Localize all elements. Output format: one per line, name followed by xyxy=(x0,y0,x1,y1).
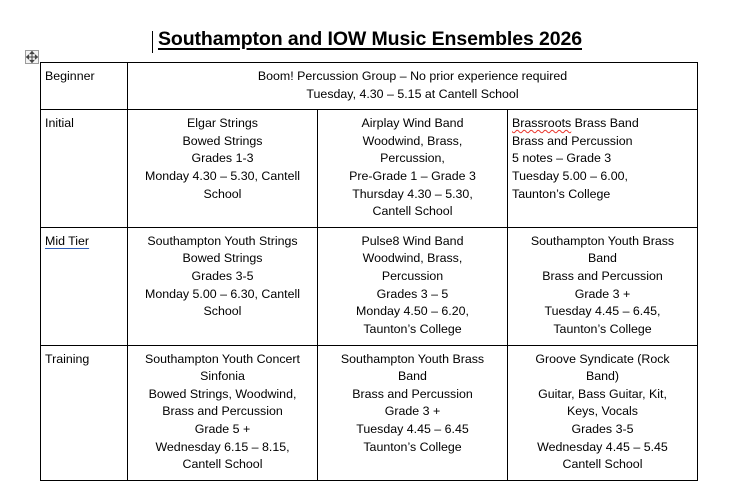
ensemble-detail-line: Band xyxy=(512,250,693,268)
ensemble-name: Southampton Youth Concert xyxy=(132,351,313,369)
ensemble-detail-line: Percussion xyxy=(322,268,503,286)
ensemble-cell[interactable]: Elgar StringsBowed StringsGrades 1-3Mond… xyxy=(128,110,318,228)
ensemble-detail-line: Wednesday 4.45 – 5.45 xyxy=(512,439,693,457)
ensemble-detail-line: Percussion, xyxy=(322,150,503,168)
ensemble-detail-line: Taunton’s College xyxy=(322,321,503,339)
ensemble-detail-line: Cantell School xyxy=(322,203,503,221)
ensemble-detail-line: Sinfonia xyxy=(132,368,313,386)
ensemble-detail-line: Grades 3-5 xyxy=(132,268,313,286)
tier-label: Initial xyxy=(45,116,74,130)
ensemble-detail-line: Thursday 4.30 – 5.30, xyxy=(322,186,503,204)
page-title: Southampton and IOW Music Ensembles 2026 xyxy=(40,28,700,51)
ensemble-detail-line: Tuesday 4.45 – 6.45 xyxy=(322,421,503,439)
tier-label: Training xyxy=(45,352,89,366)
ensemble-name-rest: Brass Band xyxy=(571,116,639,130)
ensemble-detail-line: Band xyxy=(322,368,503,386)
tier-label: Beginner xyxy=(45,69,95,83)
ensemble-name: Southampton Youth Brass xyxy=(512,233,693,251)
ensemble-name: Groove Syndicate (Rock xyxy=(512,351,693,369)
ensemble-name: Pulse8 Wind Band xyxy=(322,233,503,251)
tier-label-cell[interactable]: Initial xyxy=(41,110,128,228)
ensemble-detail-line: Tuesday 4.45 – 6.45, xyxy=(512,303,693,321)
ensemble-detail-line: Band) xyxy=(512,368,693,386)
ensemble-cell[interactable]: Groove Syndicate (RockBand)Guitar, Bass … xyxy=(508,345,698,480)
ensemble-detail-line: Bowed Strings xyxy=(132,133,313,151)
ensemble-detail-line: Brass and Percussion xyxy=(512,268,693,286)
tier-label: Mid Tier xyxy=(45,234,89,248)
tier-label-cell[interactable]: Mid Tier xyxy=(41,227,128,345)
ensembles-table: BeginnerBoom! Percussion Group – No prio… xyxy=(40,62,698,481)
table-row: Mid TierSouthampton Youth StringsBowed S… xyxy=(41,227,698,345)
ensemble-detail-line: Woodwind, Brass, xyxy=(322,250,503,268)
ensemble-cell[interactable]: Southampton Youth ConcertSinfoniaBowed S… xyxy=(128,345,318,480)
ensemble-detail-line: Cantell School xyxy=(512,456,693,474)
page-title-text: Southampton and IOW Music Ensembles 2026 xyxy=(158,28,582,50)
ensemble-detail-line: Brass and Percussion xyxy=(132,403,313,421)
ensemble-cell[interactable]: Southampton Youth BrassBandBrass and Per… xyxy=(508,227,698,345)
ensemble-name: Elgar Strings xyxy=(132,115,313,133)
ensemble-detail-line: Taunton’s College xyxy=(512,186,693,204)
ensemble-detail-line: Guitar, Bass Guitar, Kit, xyxy=(512,386,693,404)
document-page: Southampton and IOW Music Ensembles 2026… xyxy=(0,0,735,491)
ensemble-detail-line: School xyxy=(132,303,313,321)
ensemble-detail-line: Bowed Strings xyxy=(132,250,313,268)
ensemble-name: Airplay Wind Band xyxy=(322,115,503,133)
ensemble-detail-line: Woodwind, Brass, xyxy=(322,133,503,151)
ensemble-detail-line: Grades 1-3 xyxy=(132,150,313,168)
table-row: BeginnerBoom! Percussion Group – No prio… xyxy=(41,63,698,110)
ensemble-detail-line: Taunton’s College xyxy=(322,439,503,457)
ensemble-detail-line: Monday 4.30 – 5.30, Cantell xyxy=(132,168,313,186)
ensemble-name: Southampton Youth Strings xyxy=(132,233,313,251)
ensembles-table-body: BeginnerBoom! Percussion Group – No prio… xyxy=(41,63,698,481)
ensemble-cell[interactable]: Airplay Wind BandWoodwind, Brass,Percuss… xyxy=(318,110,508,228)
ensemble-detail-line: Monday 4.50 – 6.20, xyxy=(322,303,503,321)
ensemble-cell[interactable]: Pulse8 Wind BandWoodwind, Brass,Percussi… xyxy=(318,227,508,345)
ensemble-name: Southampton Youth Brass xyxy=(322,351,503,369)
ensemble-detail-line: Brass and Percussion xyxy=(512,133,693,151)
ensemble-banner-cell[interactable]: Boom! Percussion Group – No prior experi… xyxy=(128,63,698,110)
ensemble-detail-line: Monday 5.00 – 6.30, Cantell xyxy=(132,286,313,304)
tier-label-cell[interactable]: Beginner xyxy=(41,63,128,110)
table-row: TrainingSouthampton Youth ConcertSinfoni… xyxy=(41,345,698,480)
tier-label-cell[interactable]: Training xyxy=(41,345,128,480)
ensemble-name: Brassroots Brass Band xyxy=(512,115,693,133)
ensemble-cell[interactable]: Southampton Youth BrassBandBrass and Per… xyxy=(318,345,508,480)
table-row: InitialElgar StringsBowed StringsGrades … xyxy=(41,110,698,228)
table-move-handle-icon[interactable] xyxy=(25,50,39,64)
ensemble-detail-line: Tuesday 5.00 – 6.00, xyxy=(512,168,693,186)
ensemble-detail-line: Cantell School xyxy=(132,456,313,474)
ensemble-cell[interactable]: Brassroots Brass BandBrass and Percussio… xyxy=(508,110,698,228)
ensemble-detail-line: Taunton’s College xyxy=(512,321,693,339)
ensemble-detail-line: Grades 3-5 xyxy=(512,421,693,439)
ensemble-detail-line: School xyxy=(132,186,313,204)
ensemble-detail-line: Keys, Vocals xyxy=(512,403,693,421)
text-caret xyxy=(152,31,153,53)
ensemble-detail-line: Tuesday, 4.30 – 5.15 at Cantell School xyxy=(132,86,693,104)
ensemble-detail-line: 5 notes – Grade 3 xyxy=(512,150,693,168)
ensemble-detail-line: Brass and Percussion xyxy=(322,386,503,404)
ensemble-detail-line: Pre-Grade 1 – Grade 3 xyxy=(322,168,503,186)
ensemble-detail-line: Boom! Percussion Group – No prior experi… xyxy=(132,68,693,86)
spellcheck-flagged-word: Brassroots xyxy=(512,116,571,130)
ensemble-detail-line: Grade 5 + xyxy=(132,421,313,439)
ensemble-detail-line: Grades 3 – 5 xyxy=(322,286,503,304)
ensemble-detail-line: Grade 3 + xyxy=(322,403,503,421)
ensemble-detail-line: Wednesday 6.15 – 8.15, xyxy=(132,439,313,457)
ensemble-detail-line: Bowed Strings, Woodwind, xyxy=(132,386,313,404)
ensemble-detail-line: Grade 3 + xyxy=(512,286,693,304)
ensemble-cell[interactable]: Southampton Youth StringsBowed StringsGr… xyxy=(128,227,318,345)
